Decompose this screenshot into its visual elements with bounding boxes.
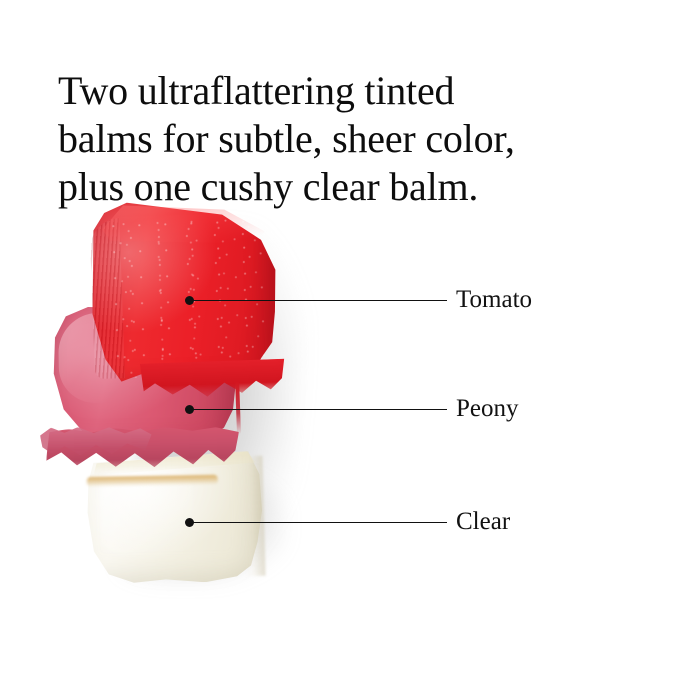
callout-line-peony (189, 409, 447, 410)
balm-block-clear (84, 451, 265, 586)
headline-line-2: balms for subtle, sheer color, (58, 115, 618, 163)
tomato-balm-ridges (89, 218, 125, 379)
product-infographic: Two ultraflattering tinted balms for sub… (0, 0, 679, 679)
headline-line-1: Two ultraflattering tinted (58, 67, 618, 115)
callout-line-tomato (189, 300, 447, 301)
clear-balm-right-edge (241, 456, 265, 576)
balm-block-tomato (85, 194, 282, 391)
callout-label-tomato: Tomato (456, 284, 532, 316)
callout-line-clear (189, 522, 447, 523)
product-image (0, 185, 420, 615)
callout-label-peony: Peony (456, 393, 519, 425)
callout-label-clear: Clear (456, 506, 510, 538)
